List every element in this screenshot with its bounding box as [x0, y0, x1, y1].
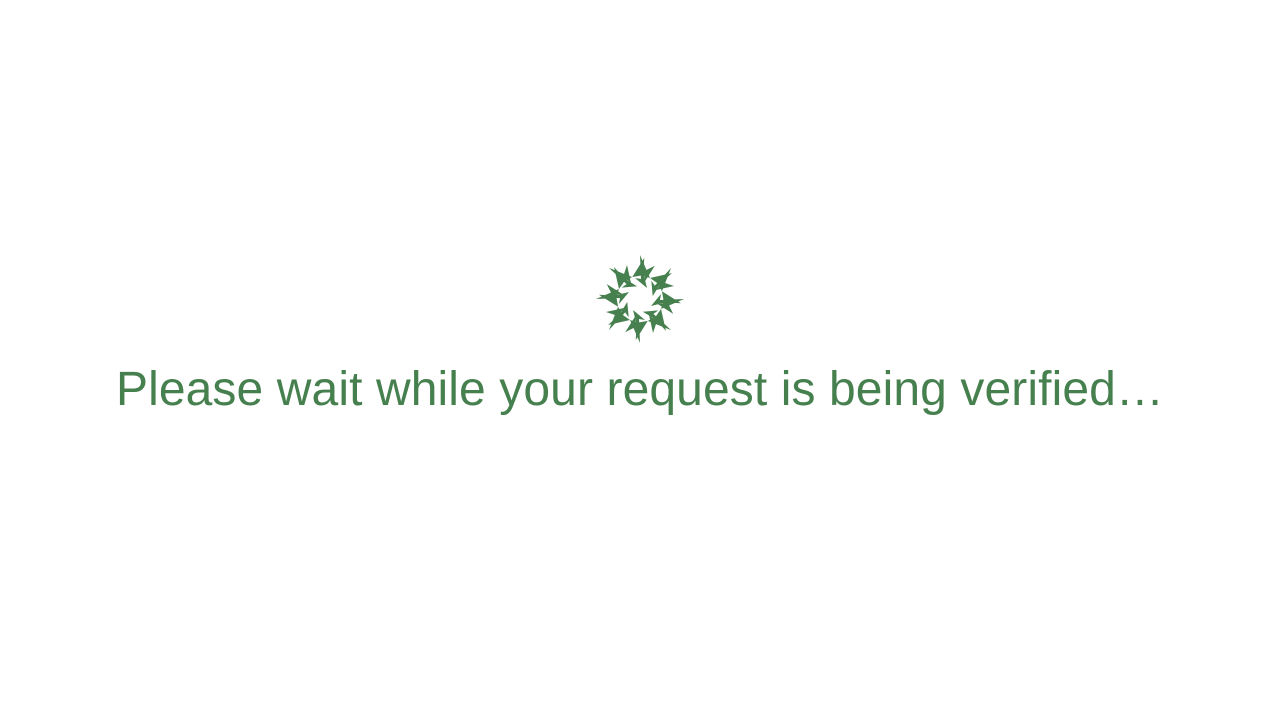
pinwheel-spinner-icon — [594, 252, 686, 348]
status-message-row: Please wait while your request is being … — [0, 362, 1280, 417]
spinner-container — [0, 252, 1280, 348]
status-message: Please wait while your request is being … — [0, 362, 1280, 417]
verification-page: Please wait while your request is being … — [0, 0, 1280, 720]
